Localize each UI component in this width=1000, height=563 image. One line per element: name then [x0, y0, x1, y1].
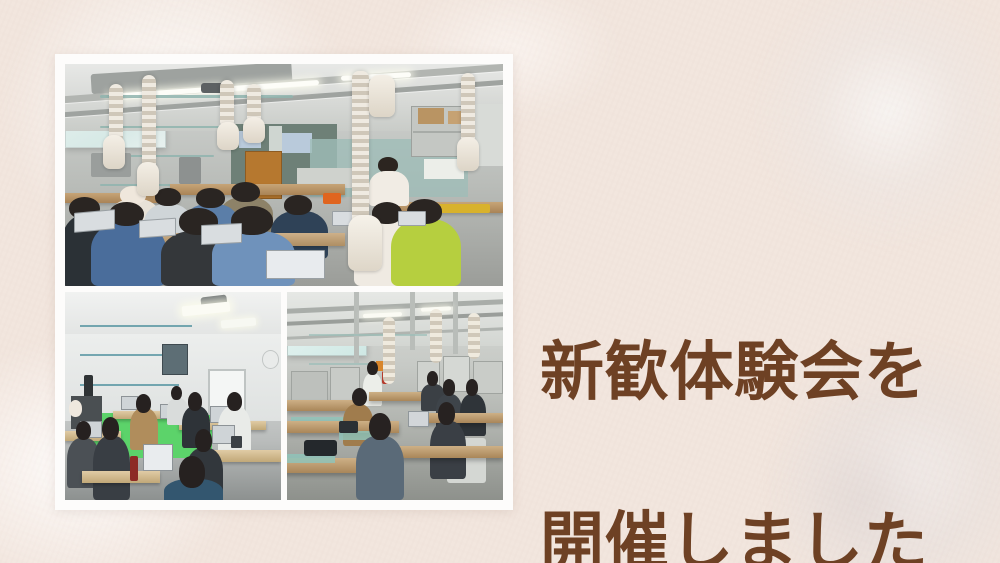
photo-workshop-lecture [65, 64, 503, 286]
photo-2-content [65, 292, 281, 500]
photo-3-content [287, 292, 503, 500]
title-line-2: 開催しました [540, 501, 960, 563]
slide-canvas: 新歓体験会を 開催しました [0, 0, 1000, 563]
photo-workshop-handson [287, 292, 503, 500]
photo-collage-frame [55, 54, 513, 510]
title-line-1: 新歓体験会を [540, 331, 960, 416]
watercolor-wash-top-right [740, 0, 1000, 260]
photo-classroom-lecture [65, 292, 281, 500]
page-title: 新歓体験会を 開催しました [540, 246, 960, 563]
photo-1-content [65, 64, 503, 286]
photo-grid [65, 64, 503, 500]
